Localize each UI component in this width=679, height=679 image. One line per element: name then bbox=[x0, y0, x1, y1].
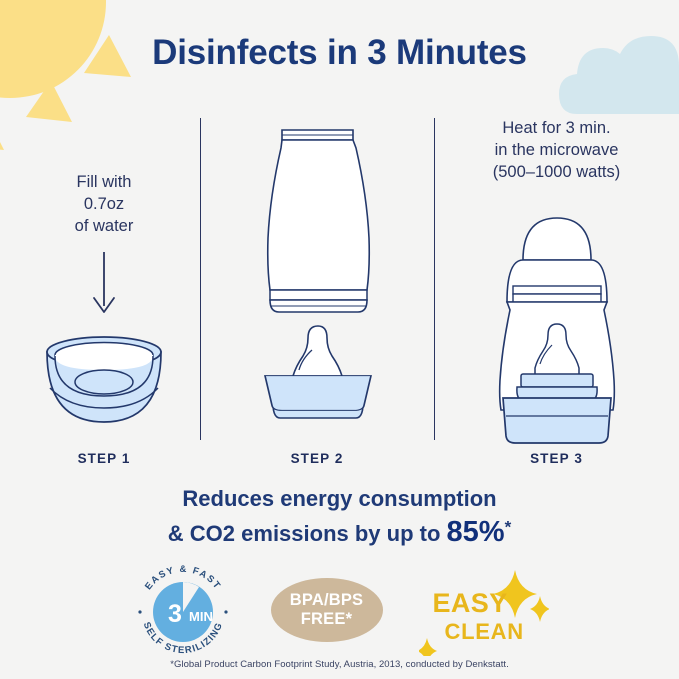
footnote: *Global Product Carbon Footprint Study, … bbox=[0, 659, 679, 670]
step-1-arrow bbox=[8, 250, 200, 320]
sparkle-small-icon bbox=[530, 596, 549, 622]
step-3-caption: Heat for 3 min. in the microwave (500–10… bbox=[434, 118, 679, 184]
step-1-caption: Fill with 0.7oz of water bbox=[8, 172, 200, 238]
badges-row: 3 MIN EASY & FAST SELF STERILIZING BPA/B… bbox=[0, 562, 679, 657]
badge-self-sterilizing: 3 MIN EASY & FAST SELF STERILIZING bbox=[131, 560, 235, 659]
badge-bpa-line-1: BPA/BPS bbox=[290, 591, 364, 610]
page-title: Disinfects in 3 Minutes bbox=[0, 33, 679, 73]
disassembled-bottle-illustration bbox=[200, 118, 434, 438]
step-3-caption-line-1: Heat for 3 min. bbox=[434, 118, 679, 140]
claim-percentage: 85% bbox=[447, 516, 505, 548]
bowl-illustration bbox=[8, 330, 200, 430]
step-1-caption-line-1: Fill with bbox=[8, 172, 200, 194]
badge-clean-text: EASY CLEAN bbox=[433, 590, 524, 643]
claim-line-2-prefix: & CO2 emissions by up to bbox=[168, 521, 447, 546]
step-3-caption-line-3: (500–1000 watts) bbox=[434, 162, 679, 184]
claim-line-2: & CO2 emissions by up to 85%* bbox=[0, 513, 679, 552]
badge-bpa-line-2: FREE* bbox=[301, 610, 352, 629]
badge-bpa-free: BPA/BPS FREE* bbox=[271, 578, 383, 642]
step-1-caption-line-3: of water bbox=[8, 216, 200, 238]
claim-text: Reduces energy consumption & CO2 emissio… bbox=[0, 484, 679, 552]
claim-asterisk: * bbox=[505, 518, 512, 537]
step-column-2: STEP 2 bbox=[200, 110, 434, 460]
step-1-caption-line-2: 0.7oz bbox=[8, 194, 200, 216]
step-column-1: Fill with 0.7oz of water bbox=[8, 110, 200, 460]
step-3-caption-line-2: in the microwave bbox=[434, 140, 679, 162]
step-1-label: STEP 1 bbox=[8, 451, 200, 466]
claim-line-1: Reduces energy consumption bbox=[0, 484, 679, 513]
badge-easy-clean: EASY CLEAN bbox=[419, 564, 549, 656]
badge-minutes-unit: MIN bbox=[189, 609, 213, 624]
badge-minutes-number: 3 bbox=[168, 600, 182, 628]
assembled-bottle-illustration bbox=[434, 198, 679, 448]
steps-container: Fill with 0.7oz of water bbox=[0, 110, 679, 460]
badge-clean-line-1: EASY bbox=[433, 590, 524, 617]
step-column-3: Heat for 3 min. in the microwave (500–10… bbox=[434, 110, 679, 460]
badge-clean-line-2: CLEAN bbox=[445, 621, 524, 643]
infographic-root: Disinfects in 3 Minutes Fill with 0.7oz … bbox=[0, 0, 679, 679]
step-3-label: STEP 3 bbox=[434, 451, 679, 466]
step-2-label: STEP 2 bbox=[200, 451, 434, 466]
